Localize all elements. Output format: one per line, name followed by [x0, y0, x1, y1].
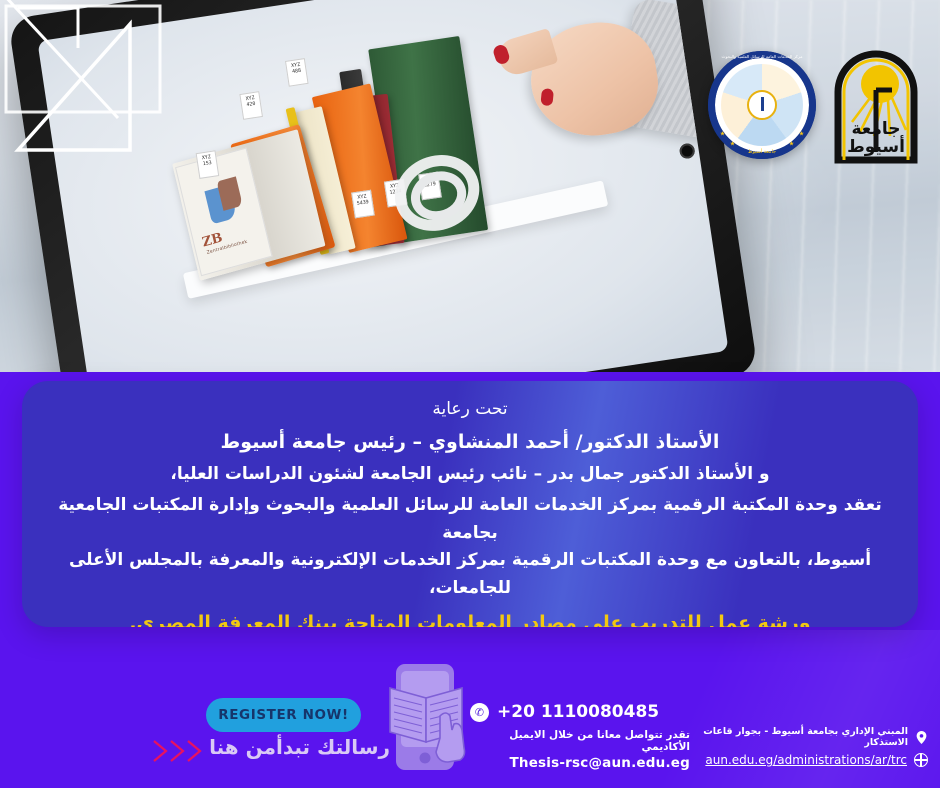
- call-number-label: XYZ420: [239, 91, 263, 120]
- contact-note: تقدر تتواصل معانا من خلال الايميل الأكاد…: [470, 729, 690, 753]
- website-url[interactable]: aun.edu.eg/administrations/ar/trc: [705, 753, 907, 767]
- location-pin-icon: [915, 731, 928, 744]
- hand-picking-book: [486, 0, 728, 242]
- sponsor-name-vice-president: و الأستاذ الدكتور جمال بدر – نائب رئيس ا…: [46, 461, 894, 487]
- call-number-label: XYZ488: [285, 58, 309, 87]
- poster-root: ZB Zentralbibliothek XYZ1234 XYZ3279 XYZ…: [0, 0, 940, 788]
- call-number-label: XYZ5439: [351, 190, 375, 219]
- phone-icon: ✆: [470, 703, 489, 722]
- tablet-device: ZB Zentralbibliothek XYZ1234 XYZ3279 XYZ…: [8, 0, 758, 372]
- svg-text:أسيوط: أسيوط: [847, 135, 905, 157]
- body-line-1: تعقد وحدة المكتبة الرقمية بمركز الخدمات …: [46, 492, 894, 547]
- announcement-card: تحت رعاية الأستاذ الدكتور/ أحمد المنشاوي…: [22, 381, 918, 627]
- phone-book-illustration: [386, 660, 470, 778]
- contact-block: ✆ +20 1110080485 تقدر تتواصل معانا من خل…: [470, 702, 690, 771]
- address-block: المبني الإداري بجامعة أسيوط - بجوار قاعا…: [672, 726, 928, 767]
- globe-icon: [914, 753, 928, 767]
- digital-library-unit-logo: مركز الخدمات العامة للرسائل العلمية والب…: [708, 51, 816, 159]
- email-address[interactable]: Thesis-rsc@aun.edu.eg: [470, 755, 690, 771]
- logo-hub: [747, 90, 777, 120]
- tagline-text: رسالتك تبدأمن هنا: [200, 735, 390, 759]
- body-line-2: أسيوط، بالتعاون مع وحدة المكتبات الرقمية…: [46, 547, 894, 602]
- address-text: المبني الإداري بجامعة أسيوط - بجوار قاعا…: [672, 726, 908, 748]
- phone-number: +20 1110080485: [497, 702, 659, 722]
- svg-text:جامعة: جامعة: [851, 119, 900, 139]
- hero-image: ZB Zentralbibliothek XYZ1234 XYZ3279 XYZ…: [0, 0, 940, 372]
- assiut-university-logo: جامعة أسيوط: [830, 46, 922, 164]
- logo-group: مركز الخدمات العامة للرسائل العلمية والب…: [708, 46, 922, 164]
- workshop-title-highlight: ورشة عمل للتدريب على مصادر المعلومات الم…: [46, 608, 894, 627]
- phone-row: ✆ +20 1110080485: [470, 702, 690, 722]
- call-number-label: XYZ153: [196, 150, 220, 179]
- website-row[interactable]: aun.edu.eg/administrations/ar/trc: [672, 753, 928, 767]
- address-row: المبني الإداري بجامعة أسيوط - بجوار قاعا…: [672, 726, 928, 748]
- sponsor-label: تحت رعاية: [46, 397, 894, 423]
- cd-cover: ZB Zentralbibliothek: [175, 148, 272, 277]
- register-now-button[interactable]: REGISTER NOW!: [206, 698, 361, 732]
- tablet-screen: ZB Zentralbibliothek XYZ1234 XYZ3279 XYZ…: [37, 0, 728, 372]
- sponsor-name-president: الأستاذ الدكتور/ أحمد المنشاوي – رئيس جا…: [46, 428, 894, 457]
- logo-bottom-text: جامعة أسيوط: [708, 149, 816, 155]
- logo-top-text: مركز الخدمات العامة للرسائل العلمية والب…: [708, 54, 816, 59]
